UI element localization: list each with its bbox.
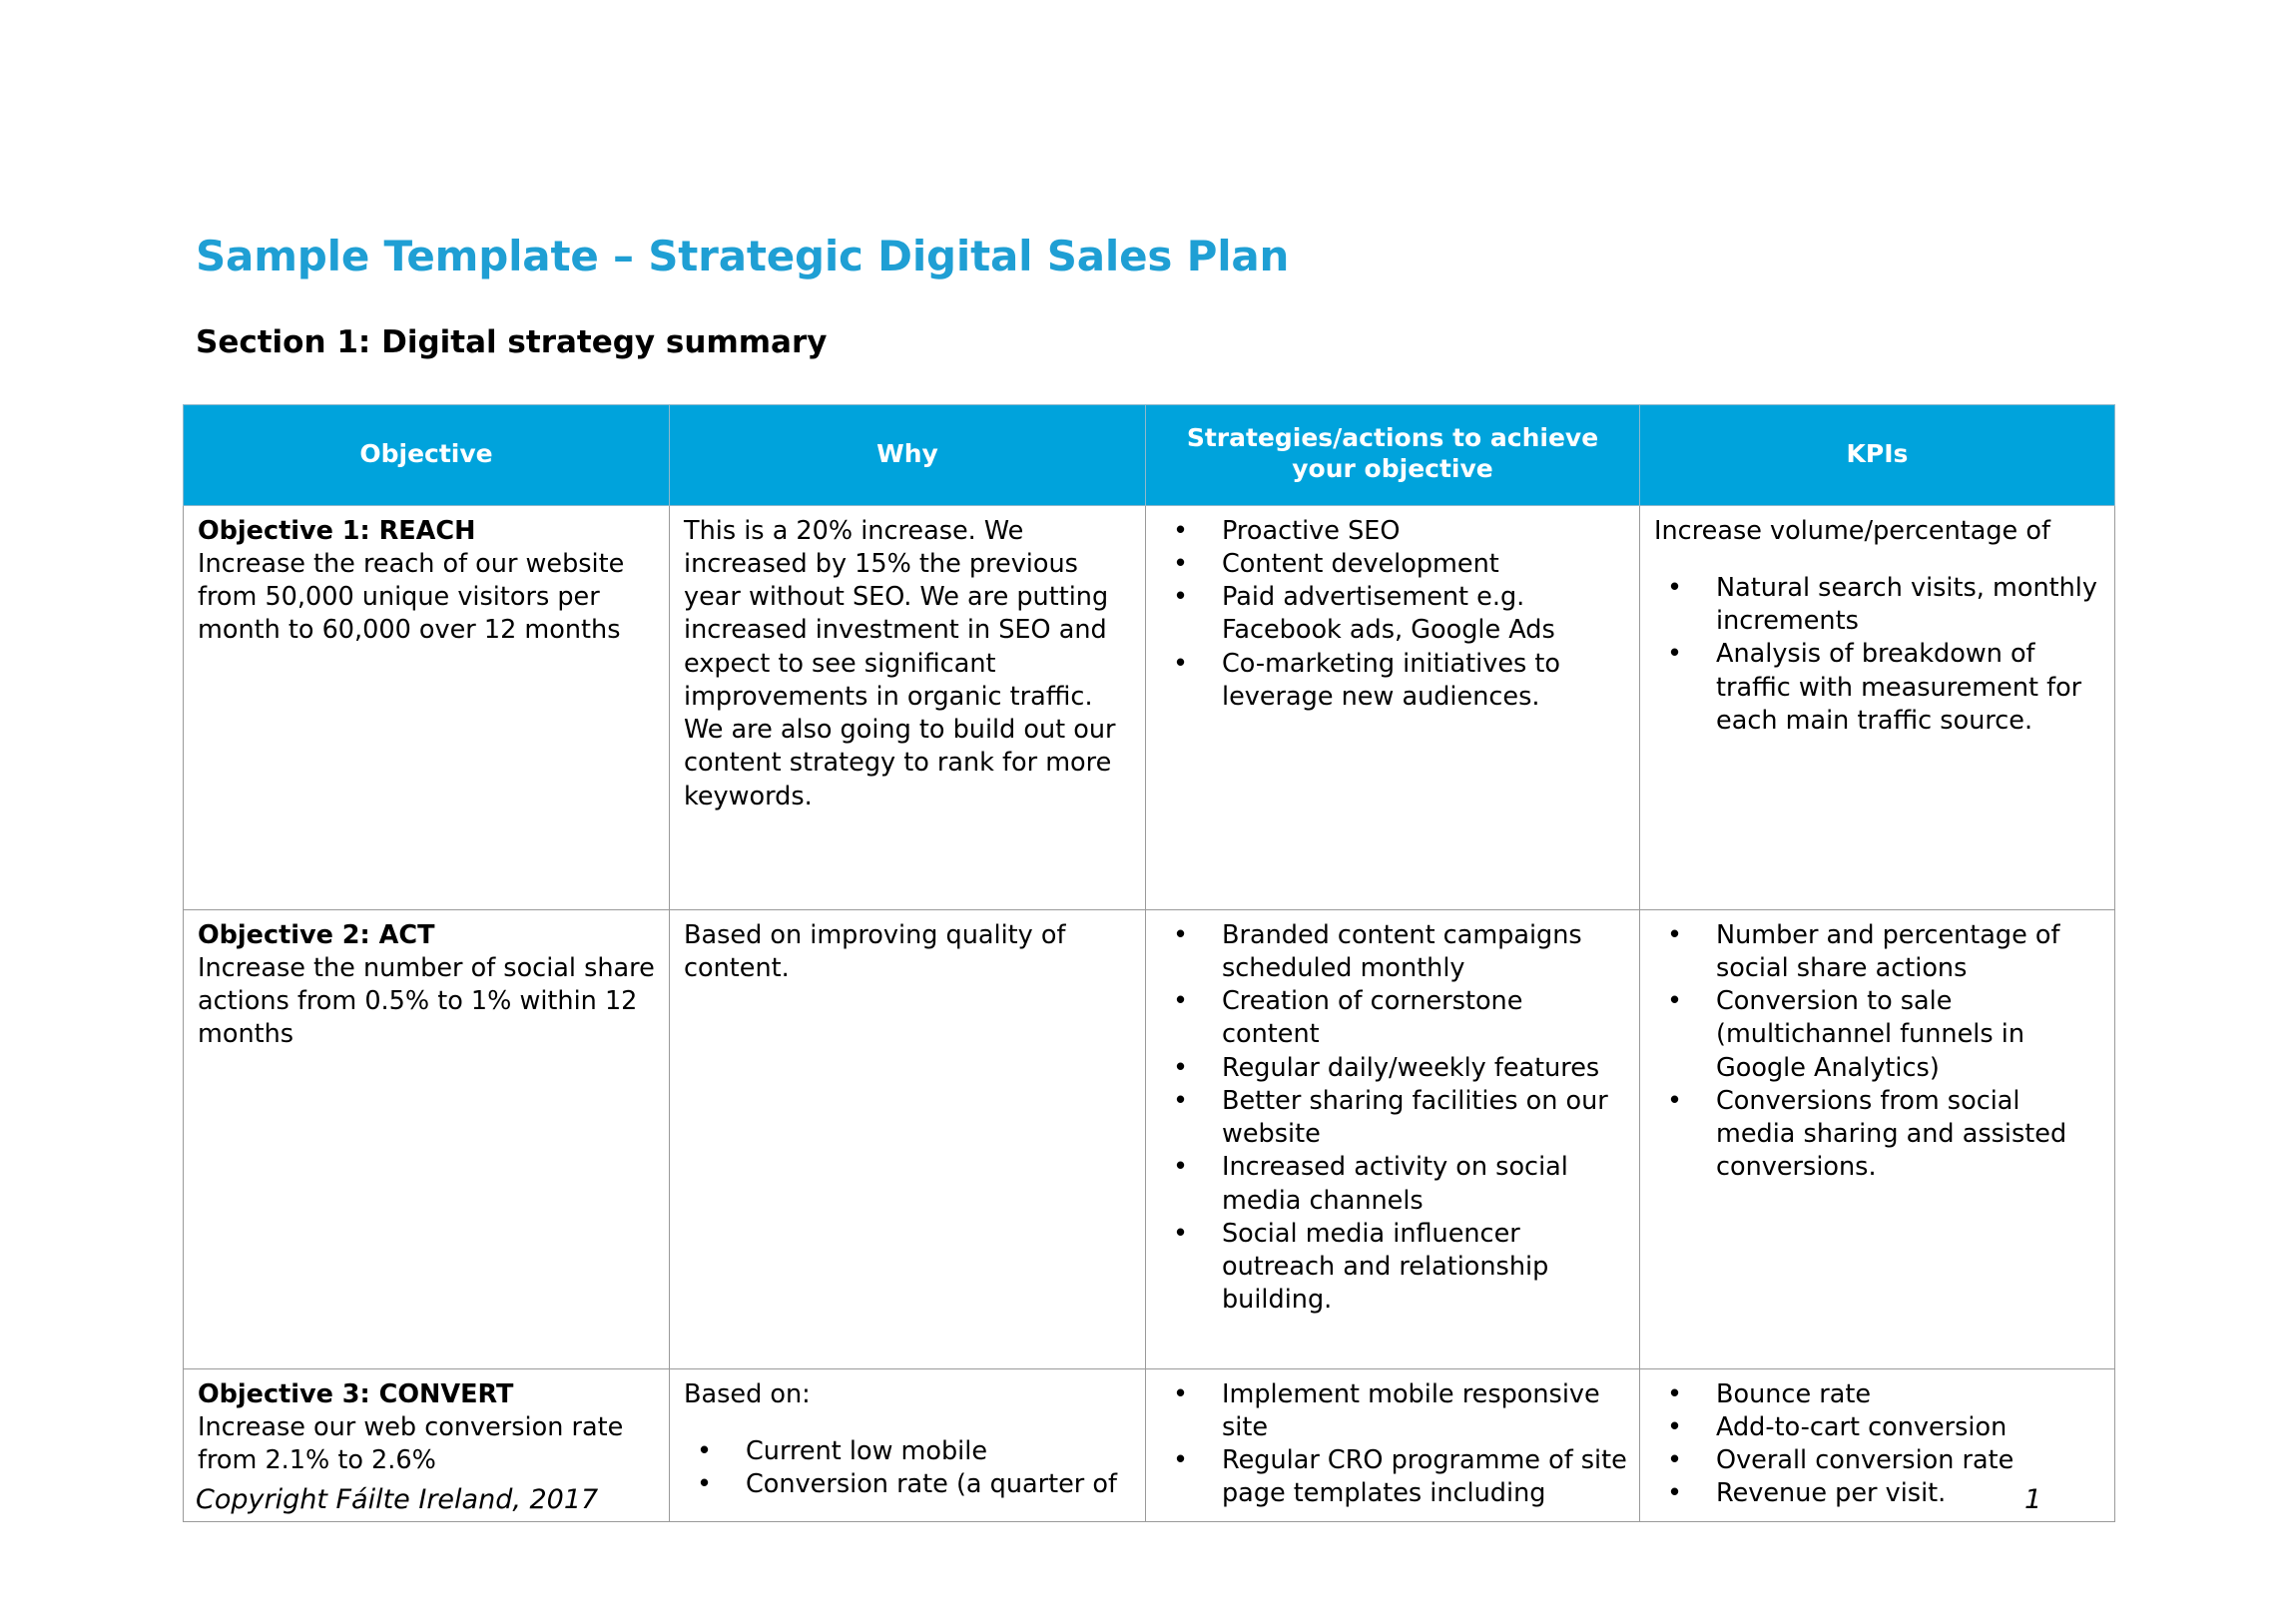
list-item: Conversion to sale (multichannel funnels… — [1654, 985, 2102, 1085]
bullet-list: Number and percentage of social share ac… — [1654, 919, 2102, 1185]
list-item: Conversion rate (a quarter of — [684, 1468, 1133, 1501]
list-item: Increased activity on social media chann… — [1160, 1151, 1627, 1218]
objective-title: Objective 1: REACH — [198, 515, 657, 548]
objective-body: Increase our web conversion rate from 2.… — [198, 1411, 657, 1478]
column-header-strategies: Strategies/actions to achieve your objec… — [1146, 405, 1640, 506]
footer-page-number: 1 — [2024, 1484, 2041, 1515]
objective-body: Increase the number of social share acti… — [198, 952, 657, 1052]
page-title: Sample Template – Strategic Digital Sale… — [196, 232, 1289, 280]
list-item: Branded content campaigns scheduled mont… — [1160, 919, 1627, 986]
objective-title: Objective 3: CONVERT — [198, 1378, 657, 1411]
why-text: Based on: — [684, 1378, 1133, 1411]
strategy-summary-table-wrapper: Objective Why Strategies/actions to achi… — [183, 404, 2114, 1522]
list-item: Add-to-cart conversion — [1654, 1411, 2102, 1444]
column-header-why: Why — [670, 405, 1146, 506]
why-text: This is a 20% increase. We increased by … — [684, 515, 1133, 813]
bullet-list: Branded content campaigns scheduled mont… — [1160, 919, 1627, 1318]
list-item: Content development — [1160, 548, 1627, 581]
objective-title: Objective 2: ACT — [198, 919, 657, 952]
list-item: Overall conversion rate — [1654, 1444, 2102, 1477]
strategy-summary-table: Objective Why Strategies/actions to achi… — [183, 404, 2115, 1522]
cell-strategies: Implement mobile responsive siteRegular … — [1146, 1368, 1640, 1521]
list-item: Co-marketing initiatives to leverage new… — [1160, 648, 1627, 715]
cell-kpis: Bounce rateAdd-to-cart conversionOverall… — [1640, 1368, 2115, 1521]
cell-strategies: Branded content campaigns scheduled mont… — [1146, 909, 1640, 1368]
list-item: Social media influencer outreach and rel… — [1160, 1218, 1627, 1318]
list-item: Natural search visits, monthly increment… — [1654, 572, 2102, 639]
list-item: Current low mobile — [684, 1435, 1133, 1468]
table-header-row: Objective Why Strategies/actions to achi… — [184, 405, 2115, 506]
objective-body: Increase the reach of our website from 5… — [198, 548, 657, 648]
table-row: Objective 2: ACTIncrease the number of s… — [184, 909, 2115, 1368]
list-item: Number and percentage of social share ac… — [1654, 919, 2102, 986]
bullet-list: Proactive SEOContent developmentPaid adv… — [1160, 515, 1627, 715]
kpis-lead: Increase volume/percentage of — [1654, 515, 2102, 548]
document-page: Sample Template – Strategic Digital Sale… — [0, 0, 2296, 1623]
bullet-list: Current low mobileConversion rate (a qua… — [684, 1435, 1133, 1502]
cell-kpis: Increase volume/percentage ofNatural sea… — [1640, 505, 2115, 909]
list-item: Conversions from social media sharing an… — [1654, 1085, 2102, 1185]
column-header-objective: Objective — [184, 405, 670, 506]
list-item: Regular CRO programme of site page templ… — [1160, 1444, 1627, 1511]
footer-copyright: Copyright Fáilte Ireland, 2017 — [196, 1484, 598, 1515]
bullet-list: Natural search visits, monthly increment… — [1654, 572, 2102, 738]
cell-why: Based on improving quality of content. — [670, 909, 1146, 1368]
list-item: Regular daily/weekly features — [1160, 1052, 1627, 1085]
table-row: Objective 1: REACHIncrease the reach of … — [184, 505, 2115, 909]
cell-kpis: Number and percentage of social share ac… — [1640, 909, 2115, 1368]
list-item: Creation of cornerstone content — [1160, 985, 1627, 1052]
list-item: Paid advertisement e.g. Facebook ads, Go… — [1160, 581, 1627, 648]
cell-strategies: Proactive SEOContent developmentPaid adv… — [1146, 505, 1640, 909]
cell-why: Based on:Current low mobileConversion ra… — [670, 1368, 1146, 1521]
bullet-list: Implement mobile responsive siteRegular … — [1160, 1378, 1627, 1511]
section-heading: Section 1: Digital strategy summary — [196, 324, 827, 360]
cell-objective: Objective 1: REACHIncrease the reach of … — [184, 505, 670, 909]
why-text: Based on improving quality of content. — [684, 919, 1133, 986]
cell-why: This is a 20% increase. We increased by … — [670, 505, 1146, 909]
list-item: Better sharing facilities on our website — [1160, 1085, 1627, 1152]
list-item: Bounce rate — [1654, 1378, 2102, 1411]
list-item: Implement mobile responsive site — [1160, 1378, 1627, 1445]
table-body: Objective 1: REACHIncrease the reach of … — [184, 505, 2115, 1521]
column-header-kpis: KPIs — [1640, 405, 2115, 506]
list-item: Proactive SEO — [1160, 515, 1627, 548]
list-item: Analysis of breakdown of traffic with me… — [1654, 638, 2102, 738]
cell-objective: Objective 2: ACTIncrease the number of s… — [184, 909, 670, 1368]
